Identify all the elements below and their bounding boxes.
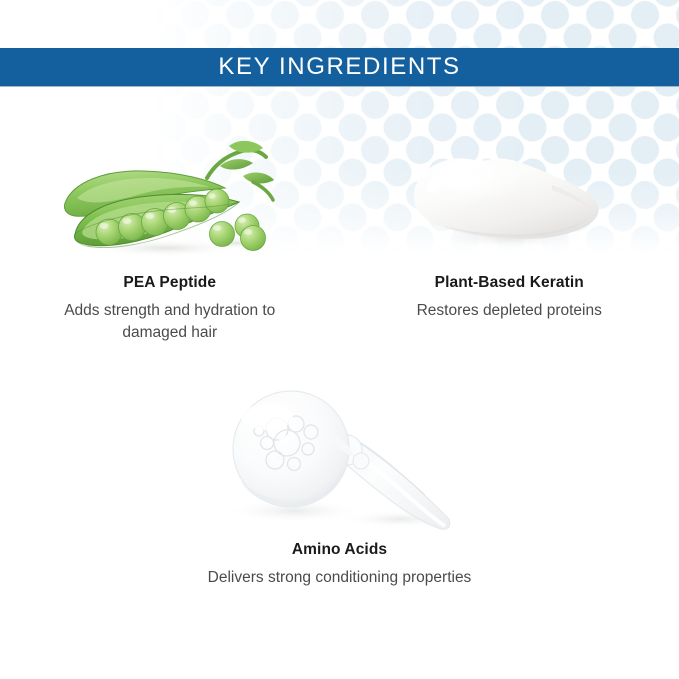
ingredients-row-bottom: Amino Acids Delivers strong conditioning… <box>0 385 679 589</box>
page-title: KEY INGREDIENTS <box>218 55 460 79</box>
ingredient-name: Plant-Based Keratin <box>435 274 584 292</box>
pea-pod-illustration <box>57 130 282 265</box>
ingredient-card-amino-acids: Amino Acids Delivers strong conditioning… <box>190 385 490 589</box>
header-banner: KEY INGREDIENTS <box>0 48 679 87</box>
ingredient-name: PEA Peptide <box>123 274 216 292</box>
ingredient-card-plant-based-keratin: Plant-Based Keratin Restores depleted pr… <box>340 130 679 345</box>
ingredient-name: Amino Acids <box>292 541 387 559</box>
cream-swatch-photo <box>340 130 679 265</box>
ingredient-description: Adds strength and hydration to damaged h… <box>40 300 300 345</box>
ingredient-description: Delivers strong conditioning properties <box>208 567 472 589</box>
cream-swatch-illustration <box>402 133 617 263</box>
ingredient-card-pea-peptide: PEA Peptide Adds strength and hydration … <box>0 130 340 345</box>
clear-gel-illustration <box>195 383 485 538</box>
clear-gel-droplet-photo <box>190 385 490 535</box>
pea-pod-photo <box>0 130 340 265</box>
ingredients-row-top: PEA Peptide Adds strength and hydration … <box>0 130 679 345</box>
key-ingredients-infographic: KEY INGREDIENTS <box>0 0 679 679</box>
ingredient-description: Restores depleted proteins <box>417 300 602 322</box>
